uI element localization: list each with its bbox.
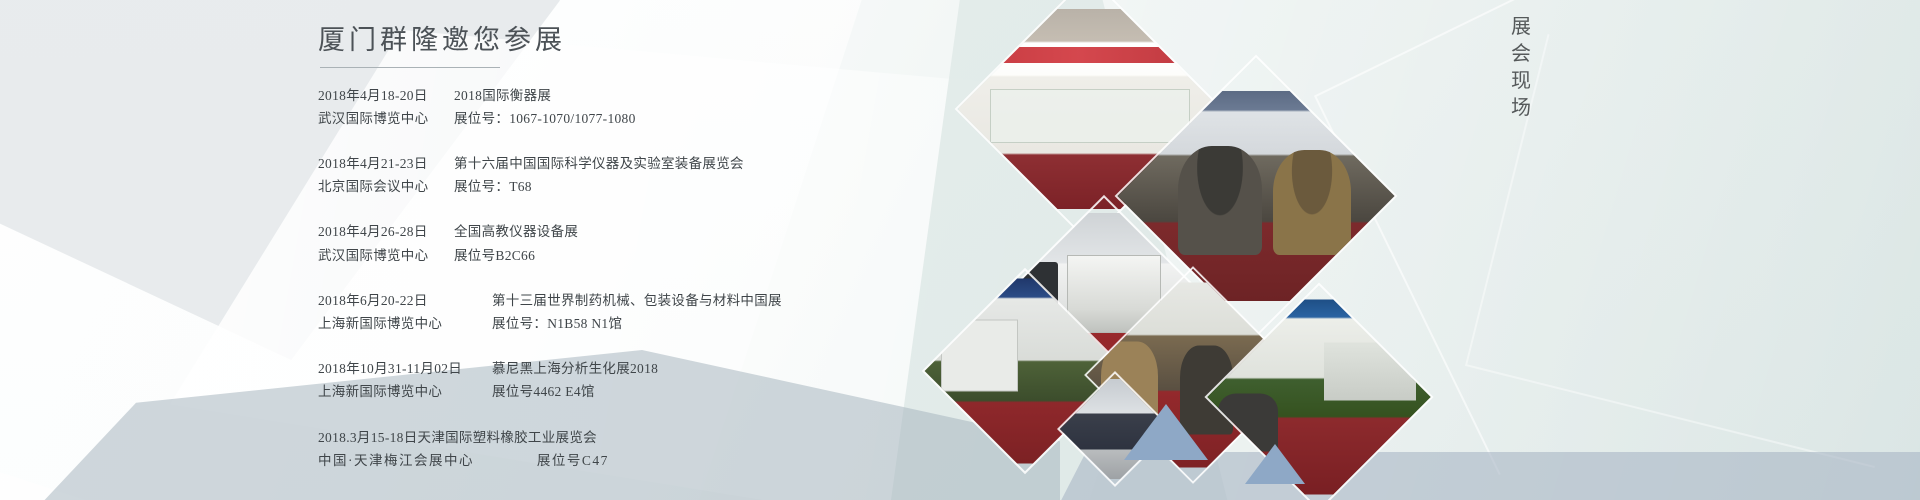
event-booth: 展位号B2C66 <box>454 244 535 267</box>
event-date: 2018年4月26-28日 <box>318 220 438 243</box>
event-venue: 武汉国际博览中心 <box>318 107 438 130</box>
event-venue: 武汉国际博览中心 <box>318 244 438 267</box>
event-row-primary: 2018年6月20-22日 第十三届世界制药机械、包装设备与材料中国展 <box>318 289 958 312</box>
title-divider <box>320 67 500 68</box>
event-item-5: 2018年10月31-11月02日 慕尼黑上海分析生化展2018 上海新国际博览… <box>318 357 958 403</box>
event-booth: 展位号：N1B58 N1馆 <box>492 312 622 335</box>
event-booth: 展位号：1067-1070/1077-1080 <box>454 107 636 130</box>
vertical-caption-char-1: 展 <box>1511 14 1533 41</box>
event-row-primary: 2018年4月18-20日 2018国际衡器展 <box>318 84 958 107</box>
event-row-primary: 2018年10月31-11月02日 慕尼黑上海分析生化展2018 <box>318 357 958 380</box>
event-item-2: 2018年4月21-23日 第十六届中国国际科学仪器及实验室装备展览会 北京国际… <box>318 152 958 198</box>
vertical-caption-char-3: 现 <box>1511 68 1533 95</box>
event-row-secondary: 武汉国际博览中心 展位号：1067-1070/1077-1080 <box>318 107 958 130</box>
event-name: 全国高教仪器设备展 <box>454 220 578 243</box>
triangle-accent-1 <box>1124 404 1208 460</box>
event-booth: 展位号C47 <box>537 453 609 468</box>
event-name: 第十三届世界制药机械、包装设备与材料中国展 <box>492 289 782 312</box>
event-date: 2018年4月18-20日 <box>318 84 438 107</box>
event-booth: 展位号：T68 <box>454 175 532 198</box>
event-row-primary: 2018年4月21-23日 第十六届中国国际科学仪器及实验室装备展览会 <box>318 152 958 175</box>
page-title: 厦门群隆邀您参展 <box>318 20 958 61</box>
vertical-caption: 展 会 现 场 <box>1489 14 1555 130</box>
event-headline: 2018.3月15-18日天津国际塑料橡胶工业展览会 <box>318 430 597 445</box>
triangle-accent-2 <box>1245 444 1305 484</box>
event-venue: 北京国际会议中心 <box>318 175 438 198</box>
event-item-1: 2018年4月18-20日 2018国际衡器展 武汉国际博览中心 展位号：106… <box>318 84 958 130</box>
event-booth: 展位号4462 E4馆 <box>492 380 595 403</box>
exhibition-banner: 厦门群隆邀您参展 2018年4月18-20日 2018国际衡器展 武汉国际博览中… <box>0 0 1920 500</box>
event-row-primary: 2018年4月26-28日 全国高教仪器设备展 <box>318 220 958 243</box>
event-venue: 上海新国际博览中心 <box>318 380 476 403</box>
event-name: 慕尼黑上海分析生化展2018 <box>492 357 658 380</box>
vertical-caption-char-4: 场 <box>1511 95 1533 122</box>
event-list-panel: 厦门群隆邀您参展 2018年4月18-20日 2018国际衡器展 武汉国际博览中… <box>318 20 958 494</box>
event-date: 2018年4月21-23日 <box>318 152 438 175</box>
event-row-secondary: 中国·天津梅江会展中心 展位号C47 <box>318 449 958 472</box>
event-item-4: 2018年6月20-22日 第十三届世界制药机械、包装设备与材料中国展 上海新国… <box>318 289 958 335</box>
event-venue: 中国·天津梅江会展中心 <box>318 453 474 468</box>
background-decoration <box>0 0 1920 500</box>
event-item-6: 2018.3月15-18日天津国际塑料橡胶工业展览会 中国·天津梅江会展中心 展… <box>318 426 958 472</box>
event-row-secondary: 上海新国际博览中心 展位号4462 E4馆 <box>318 380 958 403</box>
event-row-secondary: 武汉国际博览中心 展位号B2C66 <box>318 244 958 267</box>
event-row-secondary: 北京国际会议中心 展位号：T68 <box>318 175 958 198</box>
event-row-secondary: 上海新国际博览中心 展位号：N1B58 N1馆 <box>318 312 958 335</box>
event-name: 2018国际衡器展 <box>454 84 551 107</box>
photo-collage <box>1030 0 1450 500</box>
event-venue: 上海新国际博览中心 <box>318 312 476 335</box>
vertical-caption-char-2: 会 <box>1511 41 1533 68</box>
event-name: 第十六届中国国际科学仪器及实验室装备展览会 <box>454 152 744 175</box>
event-item-3: 2018年4月26-28日 全国高教仪器设备展 武汉国际博览中心 展位号B2C6… <box>318 220 958 266</box>
event-date: 2018年6月20-22日 <box>318 289 476 312</box>
event-date: 2018年10月31-11月02日 <box>318 357 476 380</box>
event-row-primary: 2018.3月15-18日天津国际塑料橡胶工业展览会 <box>318 426 958 449</box>
